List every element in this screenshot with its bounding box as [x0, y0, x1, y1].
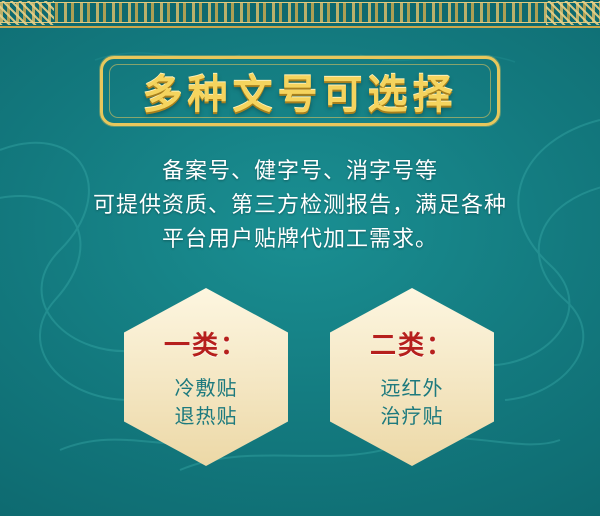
headline-plaque: 多种文号可选择	[100, 56, 500, 126]
description-line-3: 平台用户贴牌代加工需求。	[0, 223, 600, 257]
category-card-two-items: 远红外 治疗贴	[381, 374, 444, 430]
poster-canvas: 多种文号可选择 备案号、健字号、消字号等 可提供资质、第三方检测报告，满足各种 …	[0, 0, 600, 516]
category-card-one-item-1: 冷敷贴	[175, 374, 238, 402]
corner-ornament-left-icon	[0, 1, 54, 25]
description-line-1: 备案号、健字号、消字号等	[0, 155, 600, 189]
category-card-one-item-2: 退热贴	[175, 402, 238, 430]
corner-ornament-right-icon	[546, 1, 600, 25]
category-card-row: 一类： 冷敷贴 退热贴 二类： 远红外 治疗贴	[0, 288, 600, 468]
category-card-two-item-1: 远红外	[381, 374, 444, 402]
top-band-line-lower	[0, 22, 600, 23]
description-line-2: 可提供资质、第三方检测报告，满足各种	[0, 189, 600, 223]
category-card-two-item-2: 治疗贴	[381, 402, 444, 430]
description-paragraph: 备案号、健字号、消字号等 可提供资质、第三方检测报告，满足各种 平台用户贴牌代加…	[0, 155, 600, 257]
category-card-one-items: 冷敷贴 退热贴	[175, 374, 238, 430]
category-card-two-title: 二类：	[370, 325, 454, 362]
category-card-two: 二类： 远红外 治疗贴	[330, 288, 494, 466]
category-card-one: 一类： 冷敷贴 退热贴	[124, 288, 288, 466]
top-band-pattern	[0, 3, 600, 22]
top-ornament-band	[0, 0, 600, 28]
top-band-line-upper	[0, 2, 600, 3]
headline-text: 多种文号可选择	[100, 56, 500, 126]
category-card-one-title: 一类：	[164, 325, 248, 362]
